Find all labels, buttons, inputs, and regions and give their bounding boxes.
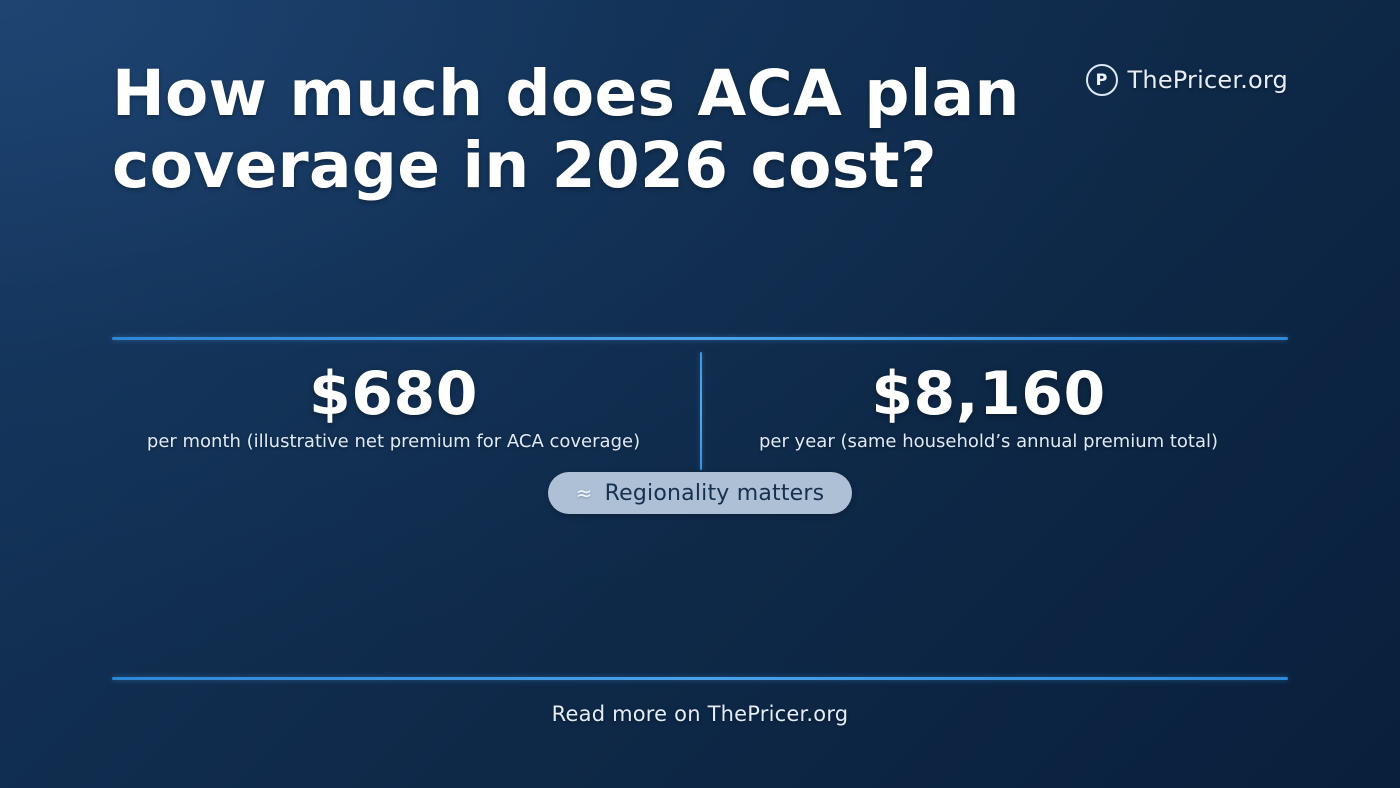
stat-monthly: $680 per month (illustrative net premium… (96, 360, 691, 454)
infographic-slide: How much does ACA plan coverage in 2026 … (0, 0, 1400, 788)
brand-logo[interactable]: P ThePricer.org (1086, 64, 1288, 96)
divider-rule-top (112, 337, 1288, 340)
circled-p-logo-icon: P (1086, 64, 1118, 96)
stat-label: per year (same household’s annual premiu… (697, 430, 1280, 454)
stat-value: $8,160 (697, 360, 1280, 428)
stat-yearly: $8,160 per year (same household’s annual… (691, 360, 1286, 454)
status-badge-label: Regionality matters (605, 481, 825, 506)
brand-mark-letter: P (1096, 72, 1108, 88)
badge-row: ≈ Regionality matters (0, 472, 1400, 514)
page-title: How much does ACA plan coverage in 2026 … (112, 58, 1092, 202)
stat-value: $680 (102, 360, 685, 428)
footer-note[interactable]: Read more on ThePricer.org (0, 702, 1400, 726)
title-block: How much does ACA plan coverage in 2026 … (112, 58, 1092, 202)
approximately-equal-icon: ≈ (576, 483, 593, 503)
stats-vertical-divider (700, 352, 702, 470)
brand-name: ThePricer.org (1128, 66, 1288, 94)
divider-rule-bottom (112, 677, 1288, 680)
stat-label: per month (illustrative net premium for … (102, 430, 685, 454)
stats-row: $680 per month (illustrative net premium… (96, 360, 1286, 454)
status-badge: ≈ Regionality matters (548, 472, 853, 514)
